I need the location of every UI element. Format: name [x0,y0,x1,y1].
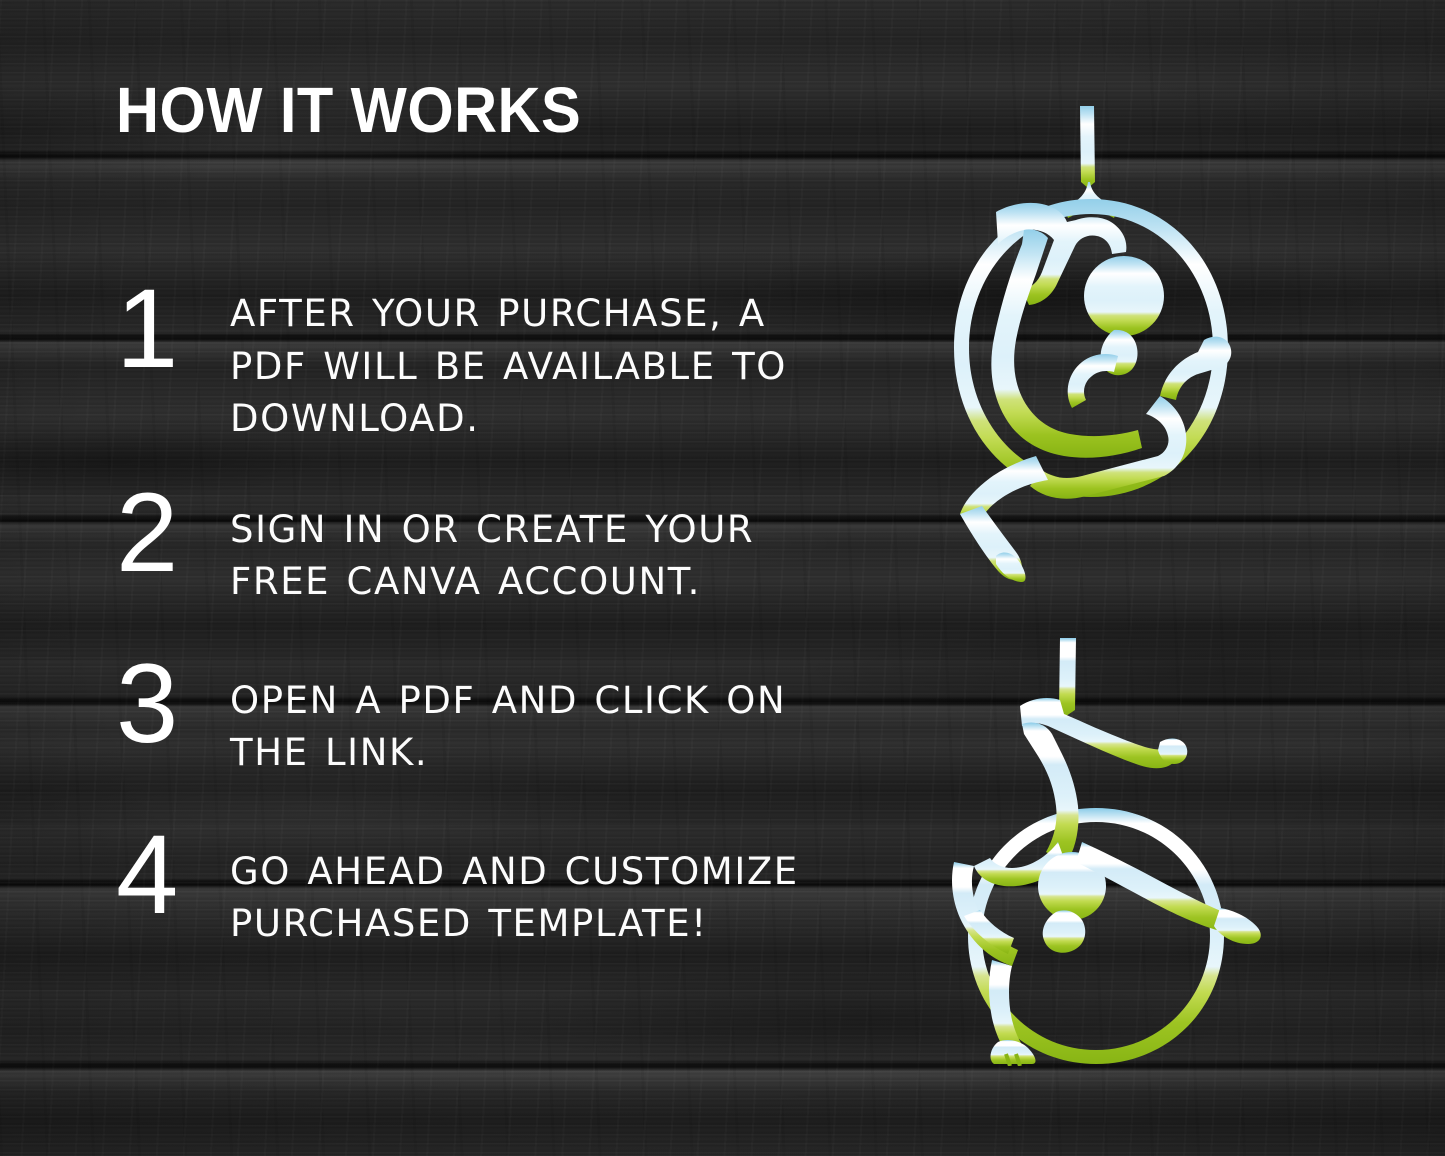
aerial-hoop-performer-upper-icon [936,104,1296,584]
list-item: 3 Open a PDF and click on the link. [112,651,832,780]
step-number: 3 [112,651,230,757]
steps-list: 1 After your purchase, a PDF will be ava… [112,276,832,985]
poster-canvas: HOW IT WORKS 1 After your purchase, a PD… [0,0,1445,1156]
step-number: 1 [112,276,230,382]
step-number: 4 [112,822,230,928]
step-text: Go ahead and customize purchased templat… [230,822,832,951]
step-text: Sign in or create your free Canva accoun… [230,480,832,609]
aerial-hoop-performer-lower-icon [928,636,1298,1066]
step-number: 2 [112,480,230,586]
list-item: 1 After your purchase, a PDF will be ava… [112,276,832,446]
list-item: 2 Sign in or create your free Canva acco… [112,480,832,609]
list-item: 4 Go ahead and customize purchased templ… [112,822,832,951]
step-text: Open a PDF and click on the link. [230,651,832,780]
page-title: HOW IT WORKS [116,78,581,142]
step-text: After your purchase, a PDF will be avail… [230,276,832,446]
